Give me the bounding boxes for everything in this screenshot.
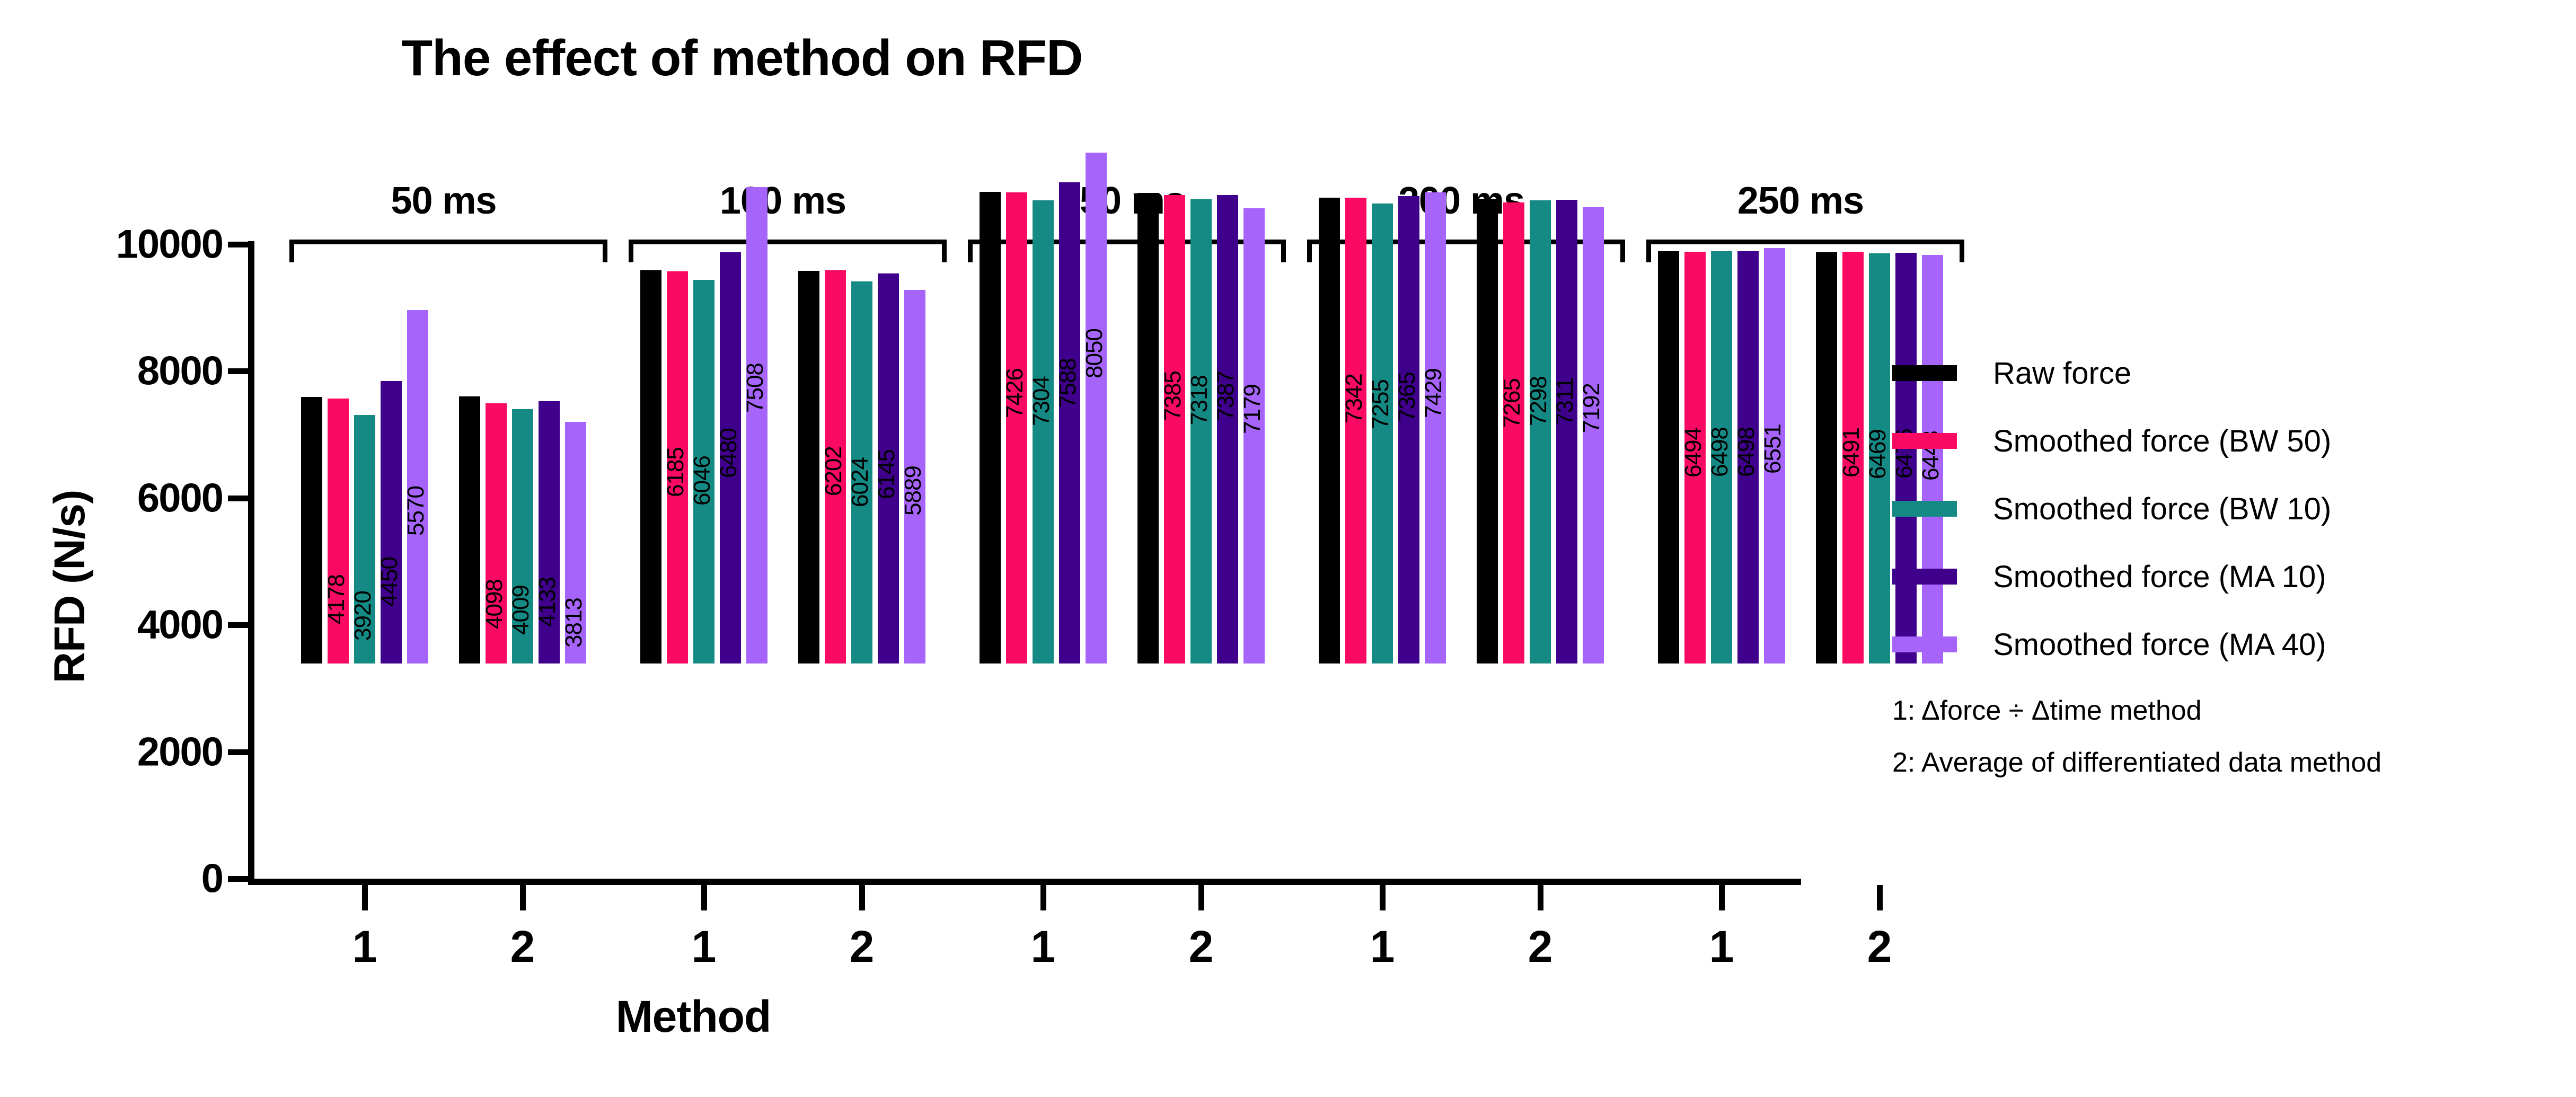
legend-item[interactable]: Smoothed force (BW 50) <box>1892 407 2565 475</box>
x-axis-tick-label: 2 <box>1159 921 1243 972</box>
bar-value-label: 6551 <box>1760 424 1786 474</box>
x-axis-tick <box>362 885 368 910</box>
bar <box>1137 193 1159 663</box>
bar-value-label: 7365 <box>1394 373 1421 422</box>
bar <box>1086 153 1107 663</box>
legend-item[interactable]: Raw force <box>1892 339 2565 407</box>
bar <box>381 381 402 663</box>
x-axis-tick-label: 1 <box>1001 921 1086 972</box>
x-axis-tick-label: 1 <box>1340 921 1425 972</box>
x-axis-tick <box>1198 885 1204 910</box>
x-axis-tick <box>1040 885 1046 910</box>
bar <box>1530 200 1551 663</box>
bar <box>1006 192 1027 663</box>
legend-swatch-icon <box>1892 501 1957 517</box>
x-axis-tick <box>1380 885 1386 910</box>
legend-swatch-icon <box>1892 636 1957 652</box>
bar-value-label: 6198 <box>636 446 663 496</box>
bar-value-label: 6202 <box>821 446 847 496</box>
bar-value-label: 5889 <box>900 466 927 516</box>
bar-value-label: 7265 <box>1499 378 1525 428</box>
bar-value-label: 6485 <box>1812 428 1838 478</box>
bar-value-label: 6491 <box>1838 428 1865 477</box>
bar-value-label: 4098 <box>481 580 508 630</box>
x-axis-tick <box>1538 885 1543 910</box>
bar-value-label: 7311 <box>1552 377 1578 426</box>
bar-value-label: 4208 <box>455 572 481 622</box>
bar <box>746 187 767 663</box>
bar-value-label: 7255 <box>1368 379 1394 429</box>
bar <box>1345 198 1366 663</box>
legend-note: 1: Δforce ÷ Δtime method <box>1892 691 2565 730</box>
bar <box>1583 207 1604 663</box>
bar <box>1190 199 1212 663</box>
legend-item-label: Smoothed force (BW 50) <box>1993 423 2331 459</box>
bar <box>1425 192 1446 663</box>
bar-value-label: 7298 <box>1525 377 1552 427</box>
bar-value-label: 7342 <box>1341 374 1368 423</box>
x-axis-tick-label: 2 <box>1498 921 1583 972</box>
bar-value-label: 8050 <box>1081 329 1108 379</box>
bar-value-label: 7192 <box>1578 383 1605 433</box>
bar <box>1033 200 1054 663</box>
x-axis-tick <box>859 885 865 910</box>
bar <box>980 192 1001 663</box>
legend-note: 2: Average of differentiated data method <box>1892 743 2565 782</box>
bar-value-label: 6500 <box>1654 427 1680 477</box>
bar-value-label: 7326 <box>1472 375 1499 424</box>
legend-swatch-icon <box>1892 433 1957 449</box>
bar <box>1059 182 1080 663</box>
bar-value-label: 7387 <box>1213 371 1239 421</box>
x-axis-tick <box>1719 885 1725 910</box>
bar-value-label: 6185 <box>663 447 689 497</box>
legend-item[interactable]: Smoothed force (BW 10) <box>1892 475 2565 543</box>
bar <box>301 397 322 663</box>
bar-value-label: 4009 <box>508 585 534 635</box>
x-axis-tick <box>1877 885 1883 910</box>
plot-area: 0200040006000800010000 RFD (N/s) 50 ms10… <box>0 0 1834 1097</box>
bar-value-label: 6193 <box>794 447 821 497</box>
legend-item-label: Smoothed force (MA 40) <box>1993 627 2326 662</box>
bar-value-label: 4205 <box>297 573 323 623</box>
bar-value-label: 4450 <box>376 557 403 607</box>
bar <box>1217 195 1238 663</box>
bar <box>1164 195 1185 663</box>
bar-value-label: 4178 <box>323 574 350 624</box>
legend-swatch-icon <box>1892 569 1957 585</box>
bar-value-label: 7435 <box>975 368 1002 418</box>
bar-value-label: 4133 <box>534 577 561 627</box>
bar-value-label: 7179 <box>1239 384 1266 434</box>
bar <box>459 396 480 663</box>
x-axis-tick-label: 2 <box>1837 921 1922 972</box>
x-axis-title: Method <box>248 991 1139 1042</box>
x-axis-tick <box>520 885 526 910</box>
bar <box>1398 196 1419 663</box>
x-axis-tick-label: 1 <box>1679 921 1764 972</box>
bar <box>1556 200 1577 663</box>
x-axis-tick-label: 1 <box>661 921 746 972</box>
legend-item[interactable]: Smoothed force (MA 40) <box>1892 611 2565 678</box>
bar-value-label: 7426 <box>1002 368 1028 418</box>
bar-value-label: 6024 <box>847 457 874 507</box>
bar-value-label: 3920 <box>350 591 376 641</box>
bar-value-label: 6498 <box>1733 427 1760 477</box>
bar-value-label: 7429 <box>1421 368 1447 418</box>
legend-item[interactable]: Smoothed force (MA 10) <box>1892 543 2565 611</box>
bar-value-label: 7588 <box>1055 358 1081 408</box>
x-axis-tick-label: 2 <box>819 921 904 972</box>
bar <box>1503 202 1524 663</box>
bar <box>1477 199 1498 663</box>
x-axis-tick <box>701 885 707 910</box>
bar-value-label: 6046 <box>689 456 716 506</box>
bar-value-label: 6469 <box>1865 429 1891 479</box>
x-axis-tick-label: 1 <box>322 921 407 972</box>
bar-value-label: 6145 <box>874 450 900 500</box>
bar-value-label: 6480 <box>716 428 742 478</box>
bar-value-label: 6494 <box>1680 428 1707 477</box>
legend-swatch-icon <box>1892 365 1957 381</box>
bars-layer: 4205417839204450557042084098400941333813… <box>0 0 1834 882</box>
bar-value-label: 7508 <box>742 363 769 413</box>
legend: Raw forceSmoothed force (BW 50)Smoothed … <box>1892 339 2565 782</box>
x-axis-tick-label: 2 <box>480 921 565 972</box>
bar-value-label: 7318 <box>1186 375 1213 425</box>
bar-value-label: 6498 <box>1707 427 1733 477</box>
bar <box>1372 204 1393 663</box>
bar-value-label: 7346 <box>1315 374 1341 423</box>
legend-item-label: Smoothed force (MA 10) <box>1993 559 2326 595</box>
bar <box>1243 208 1265 663</box>
bar <box>1319 198 1340 663</box>
bar-value-label: 7304 <box>1028 376 1055 426</box>
legend-item-label: Raw force <box>1993 356 2131 391</box>
bar-value-label: 3813 <box>561 598 587 648</box>
bar-value-label: 5570 <box>403 486 429 536</box>
bar-value-label: 7385 <box>1160 371 1186 421</box>
legend-item-label: Smoothed force (BW 10) <box>1993 491 2331 527</box>
bar-value-label: 7422 <box>1133 369 1160 419</box>
